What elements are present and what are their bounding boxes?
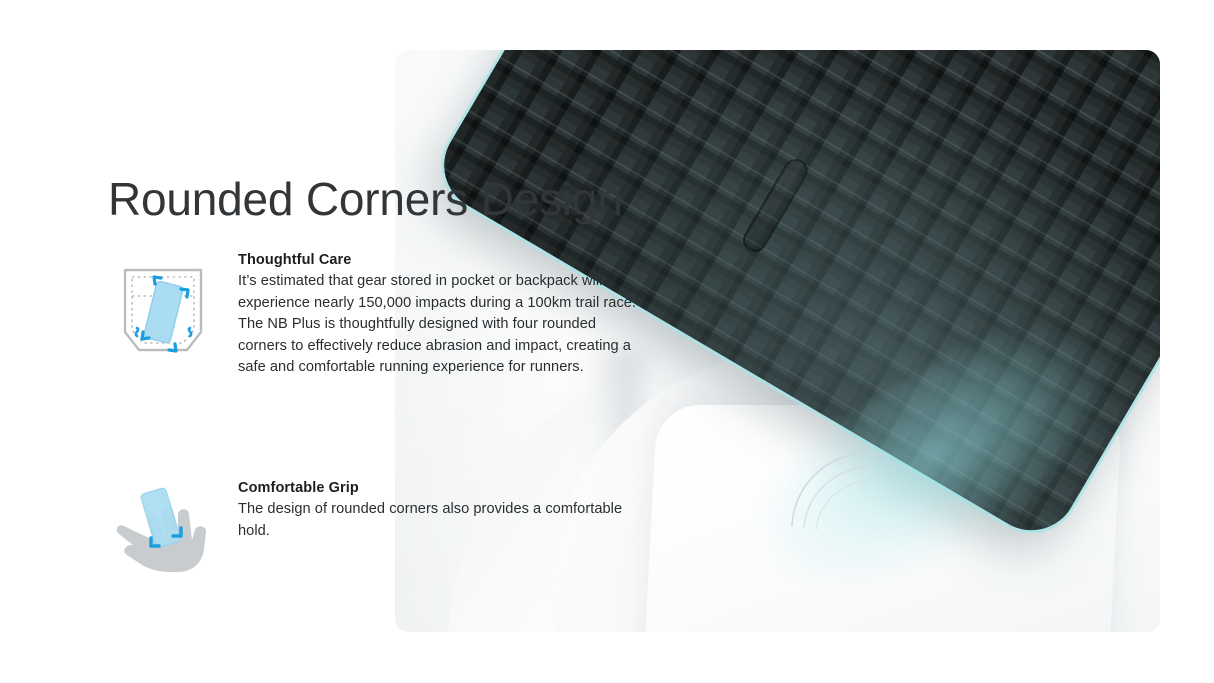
feature-text: Comfortable Grip The design of rounded c…	[222, 480, 637, 542]
feature-text: Thoughtful Care It’s estimated that gear…	[222, 252, 637, 379]
text-content-column: Rounded Corners Design	[0, 0, 680, 683]
page-title: Rounded Corners Design	[108, 172, 623, 226]
pocket-with-device-icon	[104, 252, 222, 362]
feature-block-thoughtful-care: Thoughtful Care It’s estimated that gear…	[104, 252, 637, 379]
marketing-slide: Rounded Corners Design	[0, 0, 1214, 683]
feature-body: The design of rounded corners also provi…	[238, 499, 637, 542]
feature-title: Comfortable Grip	[238, 480, 637, 496]
feature-block-comfortable-grip: Comfortable Grip The design of rounded c…	[104, 480, 637, 572]
feature-title: Thoughtful Care	[238, 252, 637, 268]
feature-body: It’s estimated that gear stored in pocke…	[238, 271, 637, 379]
impact-ripple-arcs	[780, 442, 920, 532]
hand-holding-device-icon	[104, 480, 222, 572]
